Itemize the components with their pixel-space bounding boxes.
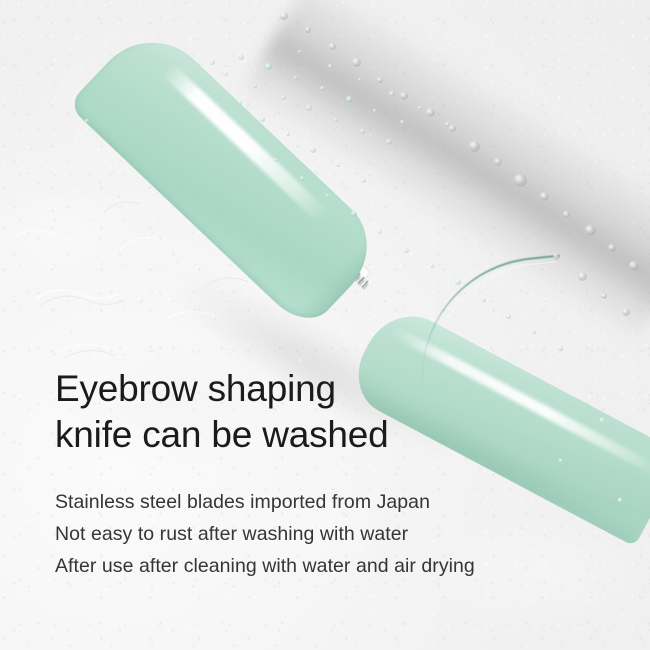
water-droplet [298,50,302,54]
water-droplet [261,341,264,344]
feature-list-item: After use after cleaning with water and … [55,550,615,582]
water-droplet [389,91,395,97]
water-droplet [608,244,616,252]
water-droplet [618,498,622,502]
water-droplet [299,359,302,362]
water-droplet [265,63,272,70]
water-droplet [358,78,362,82]
water-droplet [85,119,88,122]
water-droplet [175,261,178,264]
water-droplet [306,105,312,111]
water-droplet [601,293,607,299]
water-droplet [212,316,216,320]
water-droplet [274,158,278,162]
water-droplet [360,129,365,134]
water-droplet [426,108,435,117]
water-droplet [286,132,290,136]
water-droplet [69,329,72,332]
water-droplet [329,43,336,50]
product-image-canvas: Eyebrow shaping knife can be washed Stai… [0,0,650,650]
water-droplet [253,84,257,88]
water-droplet [328,64,333,69]
water-droplet [585,225,596,236]
feature-list-item: Not easy to rust after washing with wate… [55,518,615,550]
feature-list-item: Stainless steel blades imported from Jap… [55,486,615,518]
water-droplet [351,211,357,217]
water-droplet [95,255,98,258]
water-droplet [50,208,54,212]
water-droplet [506,314,511,319]
water-droplet [400,120,405,125]
water-droplet [563,211,570,218]
water-droplet [514,174,527,187]
water-droplet [553,253,560,260]
water-droplet [334,118,338,122]
water-droplet [400,92,408,100]
water-droplet [455,279,461,285]
water-droplet [494,158,502,166]
water-droplet [629,261,639,271]
water-droplet [280,12,288,20]
water-droplet [361,178,366,183]
marketing-copy: Eyebrow shaping knife can be washed Stai… [55,366,615,582]
water-droplet [418,106,422,110]
water-droplet [578,272,587,281]
water-droplet [305,27,311,33]
water-droplet [352,58,361,67]
water-droplet [260,117,265,122]
water-droplet [430,264,434,268]
water-droplet [294,76,298,80]
water-droplet [28,146,32,150]
water-droplet [320,86,325,91]
page-title: Eyebrow shaping knife can be washed [55,366,615,458]
water-droplet [449,125,456,132]
water-droplet [238,101,242,105]
water-droplet [469,141,480,152]
water-droplet [281,95,286,100]
water-droplet [540,192,549,201]
water-droplet [378,230,382,234]
water-droplet [336,163,340,167]
water-droplet [326,194,330,198]
water-droplet [238,54,244,60]
water-droplet [116,194,120,198]
feature-list: Stainless steel blades imported from Jap… [55,486,615,582]
water-droplet [210,60,215,65]
water-droplet [346,96,353,103]
water-droplet [373,109,377,113]
water-droplet [310,147,316,153]
water-droplet [300,176,305,181]
water-droplet [558,346,563,351]
water-droplet [386,139,392,145]
water-droplet [224,72,228,76]
water-droplet [377,77,383,83]
water-droplet [532,330,536,334]
water-droplet [148,344,152,348]
water-droplet [482,298,486,302]
water-droplet [404,248,409,253]
water-droplet [622,308,630,316]
water-droplet [138,298,143,303]
